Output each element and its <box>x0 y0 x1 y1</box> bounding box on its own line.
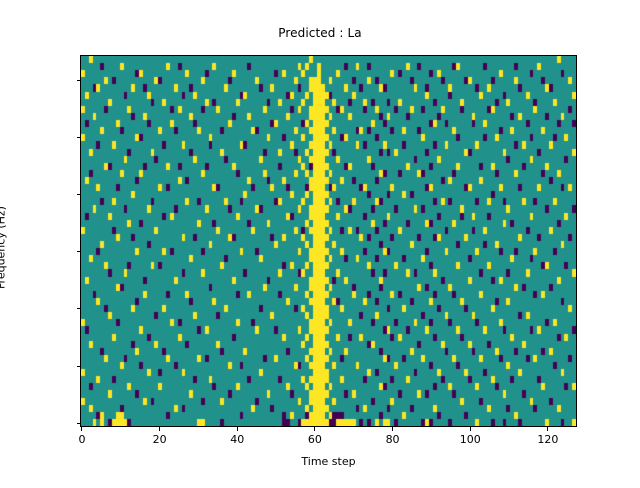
x-tick-mark <box>547 427 548 431</box>
heatmap-axes <box>80 55 577 427</box>
x-tick-label: 40 <box>207 433 267 446</box>
y-axis-label: Frequency (Hz) <box>0 8 8 488</box>
y-tick-mark <box>77 194 81 195</box>
x-tick-mark <box>159 427 160 431</box>
x-tick-mark <box>237 427 238 431</box>
y-tick-mark <box>77 137 81 138</box>
x-tick-mark <box>81 427 82 431</box>
y-tick-mark <box>77 251 81 252</box>
x-tick-mark <box>392 427 393 431</box>
x-tick-label: 80 <box>363 433 423 446</box>
x-tick-label: 120 <box>518 433 578 446</box>
matplotlib-figure: Predicted : La 0200004000060000800001000… <box>0 0 640 480</box>
x-tick-mark <box>470 427 471 431</box>
x-tick-label: 0 <box>52 433 112 446</box>
y-tick-mark <box>77 423 81 424</box>
y-tick-mark <box>77 366 81 367</box>
x-tick-label: 100 <box>440 433 500 446</box>
y-tick-mark <box>77 80 81 81</box>
x-axis-label: Time step <box>80 455 577 468</box>
heatmap-image <box>81 56 576 426</box>
x-tick-label: 20 <box>130 433 190 446</box>
page-title: Predicted : La <box>0 26 640 40</box>
x-tick-mark <box>314 427 315 431</box>
y-tick-mark <box>77 308 81 309</box>
x-tick-label: 60 <box>285 433 345 446</box>
